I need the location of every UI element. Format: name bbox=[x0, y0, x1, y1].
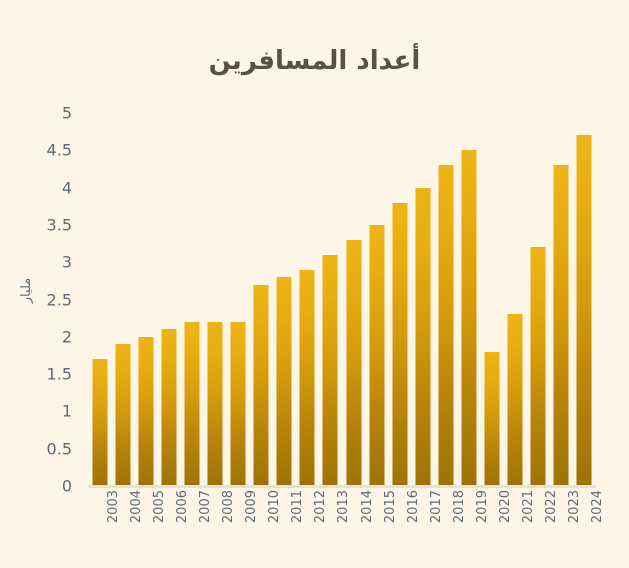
bar-slot bbox=[250, 113, 273, 486]
y-axis-tick-label: 4 bbox=[62, 178, 72, 197]
bar-slot bbox=[273, 113, 296, 486]
x-axis-tick-label: 2007 bbox=[198, 490, 213, 523]
bar[interactable] bbox=[554, 165, 569, 486]
x-axis-tick-label: 2024 bbox=[590, 490, 605, 523]
x-axis-tick-label: 2023 bbox=[567, 490, 582, 523]
x-axis-tick-label: 2021 bbox=[521, 490, 536, 523]
x-axis-tick-label: 2003 bbox=[106, 490, 121, 523]
x-axis-tick-label: 2009 bbox=[244, 490, 259, 523]
bar[interactable] bbox=[300, 270, 315, 486]
y-axis-tick-label: 1.5 bbox=[47, 365, 72, 384]
bar[interactable] bbox=[461, 150, 476, 486]
bar[interactable] bbox=[115, 344, 130, 486]
x-axis-tick-label: 2010 bbox=[267, 490, 282, 523]
bar-slot bbox=[388, 113, 411, 486]
y-axis-tick-label: 0 bbox=[62, 477, 72, 496]
bar-slot bbox=[111, 113, 134, 486]
x-axis-tick-label: 2014 bbox=[360, 490, 375, 523]
bar-slot bbox=[481, 113, 504, 486]
bar-slot bbox=[550, 113, 573, 486]
x-axis-tick-label: 2018 bbox=[452, 490, 467, 523]
bar-slot bbox=[342, 113, 365, 486]
bar[interactable] bbox=[184, 322, 199, 486]
bar[interactable] bbox=[485, 352, 500, 486]
x-axis-tick-label: 2017 bbox=[429, 490, 444, 523]
bar[interactable] bbox=[508, 314, 523, 486]
bar[interactable] bbox=[92, 359, 107, 486]
bar-slot bbox=[527, 113, 550, 486]
bar[interactable] bbox=[323, 255, 338, 486]
y-axis-title: مليار bbox=[19, 278, 34, 303]
bar-slot bbox=[227, 113, 250, 486]
y-axis-tick-label: 2 bbox=[62, 327, 72, 346]
x-axis-tick-label: 2004 bbox=[129, 490, 144, 523]
chart-title: أعداد المسافرين bbox=[0, 44, 629, 78]
bar-slot bbox=[457, 113, 480, 486]
bars-group bbox=[88, 113, 596, 486]
y-axis-tick-label: 2.5 bbox=[47, 290, 72, 309]
bar-slot bbox=[180, 113, 203, 486]
bar-slot bbox=[365, 113, 388, 486]
bar[interactable] bbox=[392, 203, 407, 486]
bar[interactable] bbox=[531, 247, 546, 486]
x-axis-tick-label: 2006 bbox=[175, 490, 190, 523]
bar[interactable] bbox=[277, 277, 292, 486]
bar[interactable] bbox=[138, 337, 153, 486]
y-axis-tick-label: 3 bbox=[62, 253, 72, 272]
x-axis-tick-label: 2015 bbox=[383, 490, 398, 523]
y-axis-tick-label: 0.5 bbox=[47, 439, 72, 458]
bar-slot bbox=[203, 113, 226, 486]
bar[interactable] bbox=[438, 165, 453, 486]
x-axis-tick-label: 2022 bbox=[544, 490, 559, 523]
x-axis-tick-label: 2016 bbox=[406, 490, 421, 523]
x-axis-tick-label: 2019 bbox=[475, 490, 490, 523]
bar-slot bbox=[134, 113, 157, 486]
bar-slot bbox=[434, 113, 457, 486]
x-axis-tick-label: 2020 bbox=[498, 490, 513, 523]
bar[interactable] bbox=[207, 322, 222, 486]
bar[interactable] bbox=[254, 285, 269, 486]
x-axis-baseline bbox=[88, 485, 596, 488]
bar-slot bbox=[573, 113, 596, 486]
bar[interactable] bbox=[369, 225, 384, 486]
x-axis-tick-label: 2011 bbox=[290, 490, 305, 523]
y-axis-tick-label: 1 bbox=[62, 402, 72, 421]
x-axis-tick-label: 2008 bbox=[221, 490, 236, 523]
bar-slot bbox=[504, 113, 527, 486]
bar-slot bbox=[296, 113, 319, 486]
x-axis-tick-label: 2012 bbox=[313, 490, 328, 523]
bar-slot bbox=[157, 113, 180, 486]
x-axis-tick-label: 2013 bbox=[336, 490, 351, 523]
x-axis-tick-label: 2005 bbox=[152, 490, 167, 523]
y-axis-tick-label: 3.5 bbox=[47, 215, 72, 234]
bar[interactable] bbox=[346, 240, 361, 486]
bar-slot bbox=[319, 113, 342, 486]
bar[interactable] bbox=[415, 188, 430, 486]
x-axis: 2003200420052006200720082009201020112012… bbox=[88, 490, 596, 550]
bar-slot bbox=[88, 113, 111, 486]
bar-slot bbox=[411, 113, 434, 486]
y-axis-tick-label: 5 bbox=[62, 104, 72, 123]
bar[interactable] bbox=[577, 135, 592, 486]
bar[interactable] bbox=[231, 322, 246, 486]
bar-chart: أعداد المسافرين 54.543.532.521.510.50 مل… bbox=[0, 0, 629, 568]
bar[interactable] bbox=[161, 329, 176, 486]
y-axis: 54.543.532.521.510.50 bbox=[0, 113, 82, 486]
y-axis-tick-label: 4.5 bbox=[47, 141, 72, 160]
